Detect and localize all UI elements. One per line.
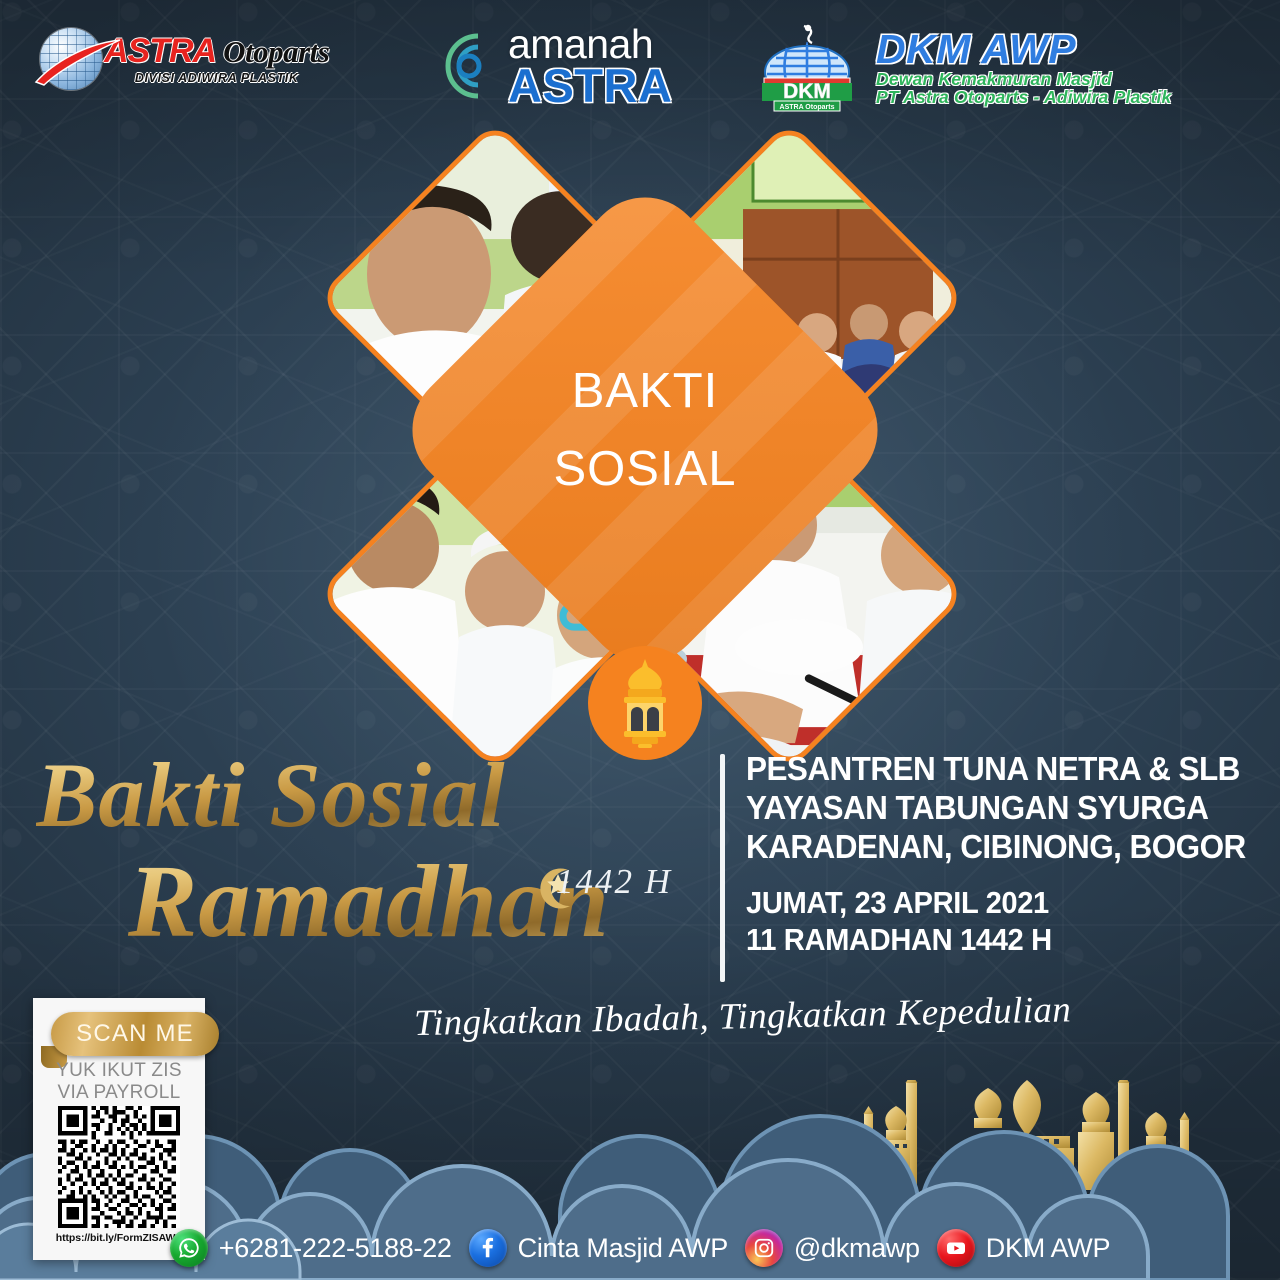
facebook-icon[interactable] <box>469 1229 507 1267</box>
facebook-name: Cinta Masjid AWP <box>518 1233 728 1264</box>
dkm-title: DKM AWP <box>876 29 1172 71</box>
instagram-handle: @dkmawp <box>794 1233 920 1264</box>
otoparts-name: Otoparts <box>223 36 329 67</box>
contact-youtube[interactable]: DKM AWP <box>937 1229 1110 1267</box>
social-contact-bar: +6281-222-5188-22 Cinta Masjid AWP @dkma… <box>0 1225 1280 1271</box>
whatsapp-icon[interactable] <box>170 1229 208 1267</box>
astra-otoparts-logo: ASTRA Otoparts DIVISI ADIWIRA PLASTIK <box>40 28 329 90</box>
qr-scan-card[interactable]: SCAN ME YUK IKUT ZIS VIA PAYROLL <box>33 998 205 1260</box>
event-details: PESANTREN TUNA NETRA & SLB YAYASAN TABUN… <box>720 750 1260 958</box>
venue-line-1: PESANTREN TUNA NETRA & SLB <box>746 750 1229 789</box>
astra-name: ASTRA <box>104 34 216 68</box>
svg-text:DKM: DKM <box>783 80 831 103</box>
qr-subtitle-2: VIA PAYROLL <box>33 1082 205 1104</box>
youtube-icon[interactable] <box>937 1229 975 1267</box>
contact-instagram[interactable]: @dkmawp <box>745 1229 920 1267</box>
venue-line-2: YAYASAN TABUNGAN SYURGA <box>746 789 1229 828</box>
details-divider <box>720 754 725 982</box>
hijri-year: 1442 H <box>556 862 672 902</box>
svg-text:ASTRA Otoparts: ASTRA Otoparts <box>780 104 835 111</box>
concentric-circles-icon <box>432 30 498 102</box>
astra-label: ASTRA <box>508 64 672 107</box>
astra-wordmark: ASTRA Otoparts DIVISI ADIWIRA PLASTIK <box>104 34 329 85</box>
contact-facebook[interactable]: Cinta Masjid AWP <box>469 1229 728 1267</box>
globe-icon <box>40 28 102 90</box>
instagram-icon[interactable] <box>745 1229 783 1267</box>
venue-line-3: KARADENAN, CIBINONG, BOGOR <box>746 828 1229 867</box>
youtube-name: DKM AWP <box>986 1233 1110 1264</box>
qr-subtitle-1: YUK IKUT ZIS <box>33 1060 205 1082</box>
mosque-dome-icon: DKM ASTRA Otoparts <box>752 22 862 114</box>
whatsapp-number: +6281-222-5188-22 <box>219 1233 452 1264</box>
dkm-subtitle-2: PT Astra Otoparts - Adiwira Plastik <box>876 89 1172 107</box>
header-logo-bar: ASTRA Otoparts DIVISI ADIWIRA PLASTIK am… <box>0 0 1280 132</box>
scan-me-badge: SCAN ME <box>51 1012 219 1056</box>
astra-division-label: DIVISI ADIWIRA PLASTIK <box>104 72 329 85</box>
contact-whatsapp[interactable]: +6281-222-5188-22 <box>170 1229 452 1267</box>
qr-code-icon[interactable] <box>52 1106 186 1228</box>
photo-collage: BAKTI SOSIAL <box>345 160 945 740</box>
amanah-astra-logo: amanah ASTRA <box>432 26 672 107</box>
ramadan-lantern-icon <box>610 657 680 749</box>
qr-subtitle: YUK IKUT ZIS VIA PAYROLL <box>33 1060 205 1104</box>
title-line-1: Bakti Sosial <box>36 742 506 848</box>
poster-canvas: ASTRA Otoparts DIVISI ADIWIRA PLASTIK am… <box>0 0 1280 1280</box>
event-date: JUMAT, 23 APRIL 2021 <box>746 884 1229 921</box>
dkm-awp-logo: DKM ASTRA Otoparts DKM AWP Dewan Kemakmu… <box>752 22 1172 114</box>
event-hijri-date: 11 RAMADHAN 1442 H <box>746 921 1229 958</box>
